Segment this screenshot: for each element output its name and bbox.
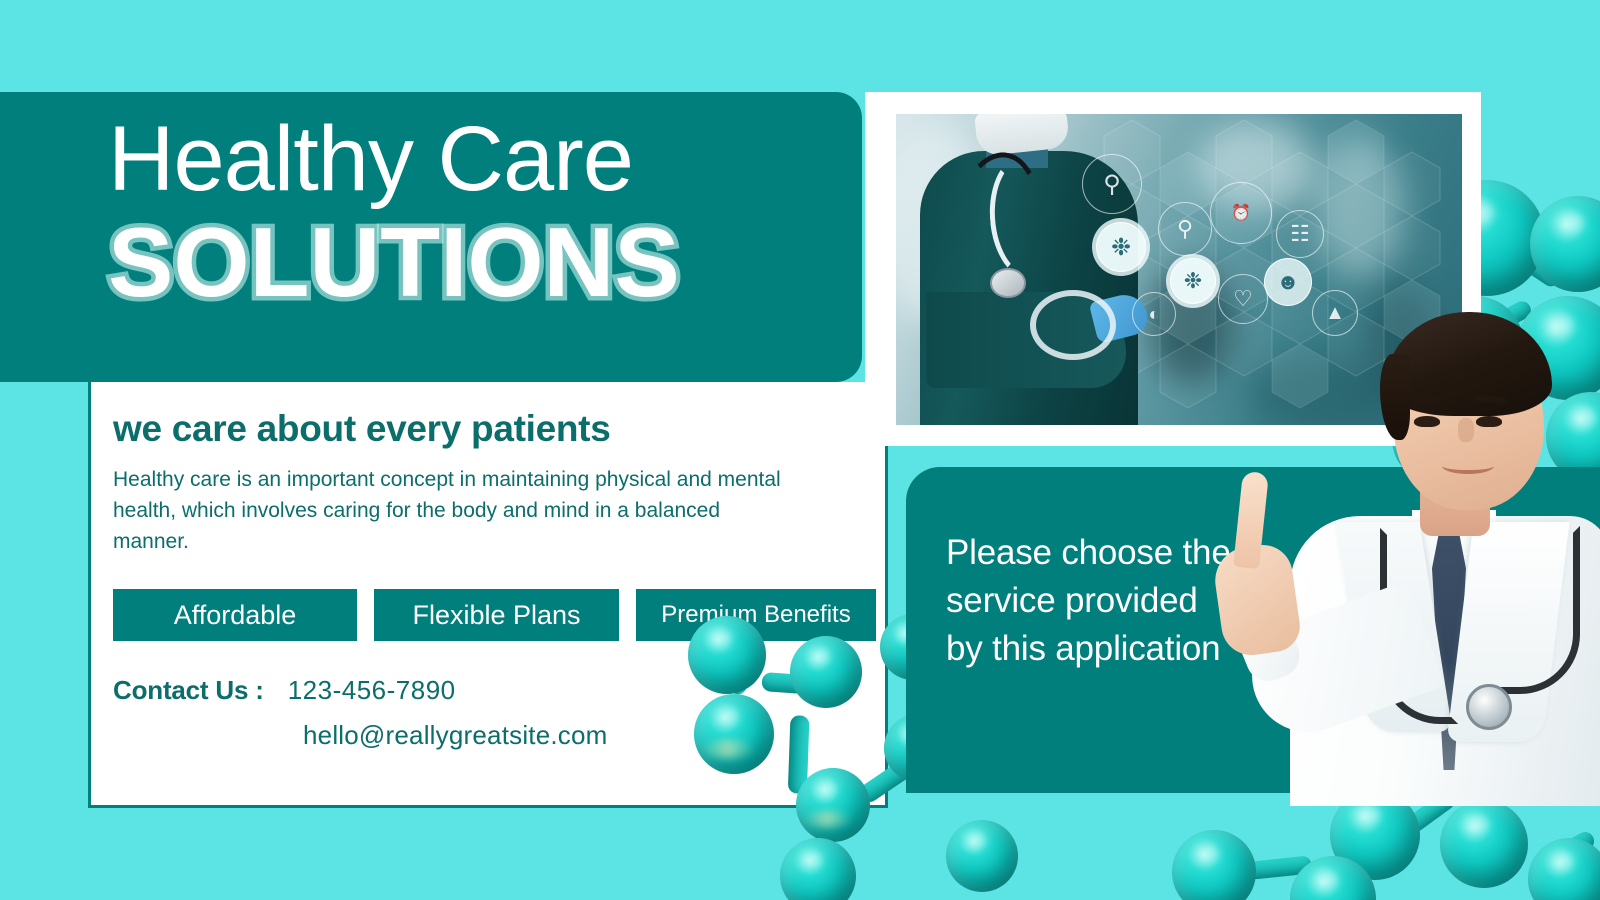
contact-email[interactable]: hello@reallygreatsite.com: [303, 720, 885, 751]
info-card: we care about every patients Healthy car…: [88, 382, 888, 808]
stethoscope-ring: [1030, 290, 1116, 360]
molecule-bond: [1247, 855, 1313, 880]
virus-icon: ❉: [1096, 222, 1146, 272]
doctor-eye-right: [1476, 416, 1502, 427]
virus-icon-2: ❉: [1170, 258, 1216, 304]
pill-icon: ◐: [1132, 292, 1176, 336]
page-title-line1: Healthy Care: [108, 106, 862, 212]
tag-flexible-plans[interactable]: Flexible Plans: [374, 589, 619, 641]
doctor-hair: [1386, 312, 1552, 416]
molecule-atom: [1172, 830, 1256, 900]
contact-block: Contact Us : 123-456-7890 hello@reallygr…: [113, 675, 885, 751]
molecule-atom: [946, 820, 1018, 892]
stethoscope-bell: [990, 268, 1026, 298]
tag-row: Affordable Flexible Plans Premium Benefi…: [113, 589, 885, 641]
doctor-smile: [1442, 458, 1494, 474]
doctor-figure: [1234, 278, 1600, 793]
service-panel-text: Please choose the service provided by th…: [906, 467, 1236, 673]
page-title-line2: SOLUTIONS: [108, 208, 862, 316]
doctor-stethoscope-right: [1484, 526, 1580, 694]
contact-label: Contact Us :: [113, 675, 264, 706]
doctor-nose: [1458, 418, 1474, 442]
stethoscope-icon: ⚲: [1082, 154, 1142, 214]
tag-premium-benefits[interactable]: Premium Benefits: [636, 589, 876, 641]
stethoscope-icon-2: ⚲: [1158, 202, 1212, 256]
vitals-icon: ⏰: [1210, 182, 1272, 244]
body-copy: Healthy care is an important concept in …: [113, 464, 785, 557]
molecule-bond: [1536, 829, 1597, 873]
molecule-atom: [1440, 800, 1528, 888]
doctor-stethoscope-bell: [1466, 684, 1512, 730]
molecule-atom: [780, 838, 856, 900]
doctor-eye-left: [1414, 416, 1440, 427]
globe-icon: ☷: [1276, 210, 1324, 258]
doctor-sideburn: [1380, 354, 1410, 440]
contact-phone[interactable]: 123-456-7890: [288, 675, 456, 706]
tag-affordable[interactable]: Affordable: [113, 589, 357, 641]
poster-canvas: Healthy Care SOLUTIONS we care about eve…: [0, 0, 1600, 900]
title-block: Healthy Care SOLUTIONS: [0, 92, 862, 382]
molecule-atom: [1290, 856, 1376, 900]
molecule-atom: [1528, 838, 1600, 900]
headline: we care about every patients: [113, 408, 885, 450]
face-mask-icon: [974, 114, 1070, 157]
